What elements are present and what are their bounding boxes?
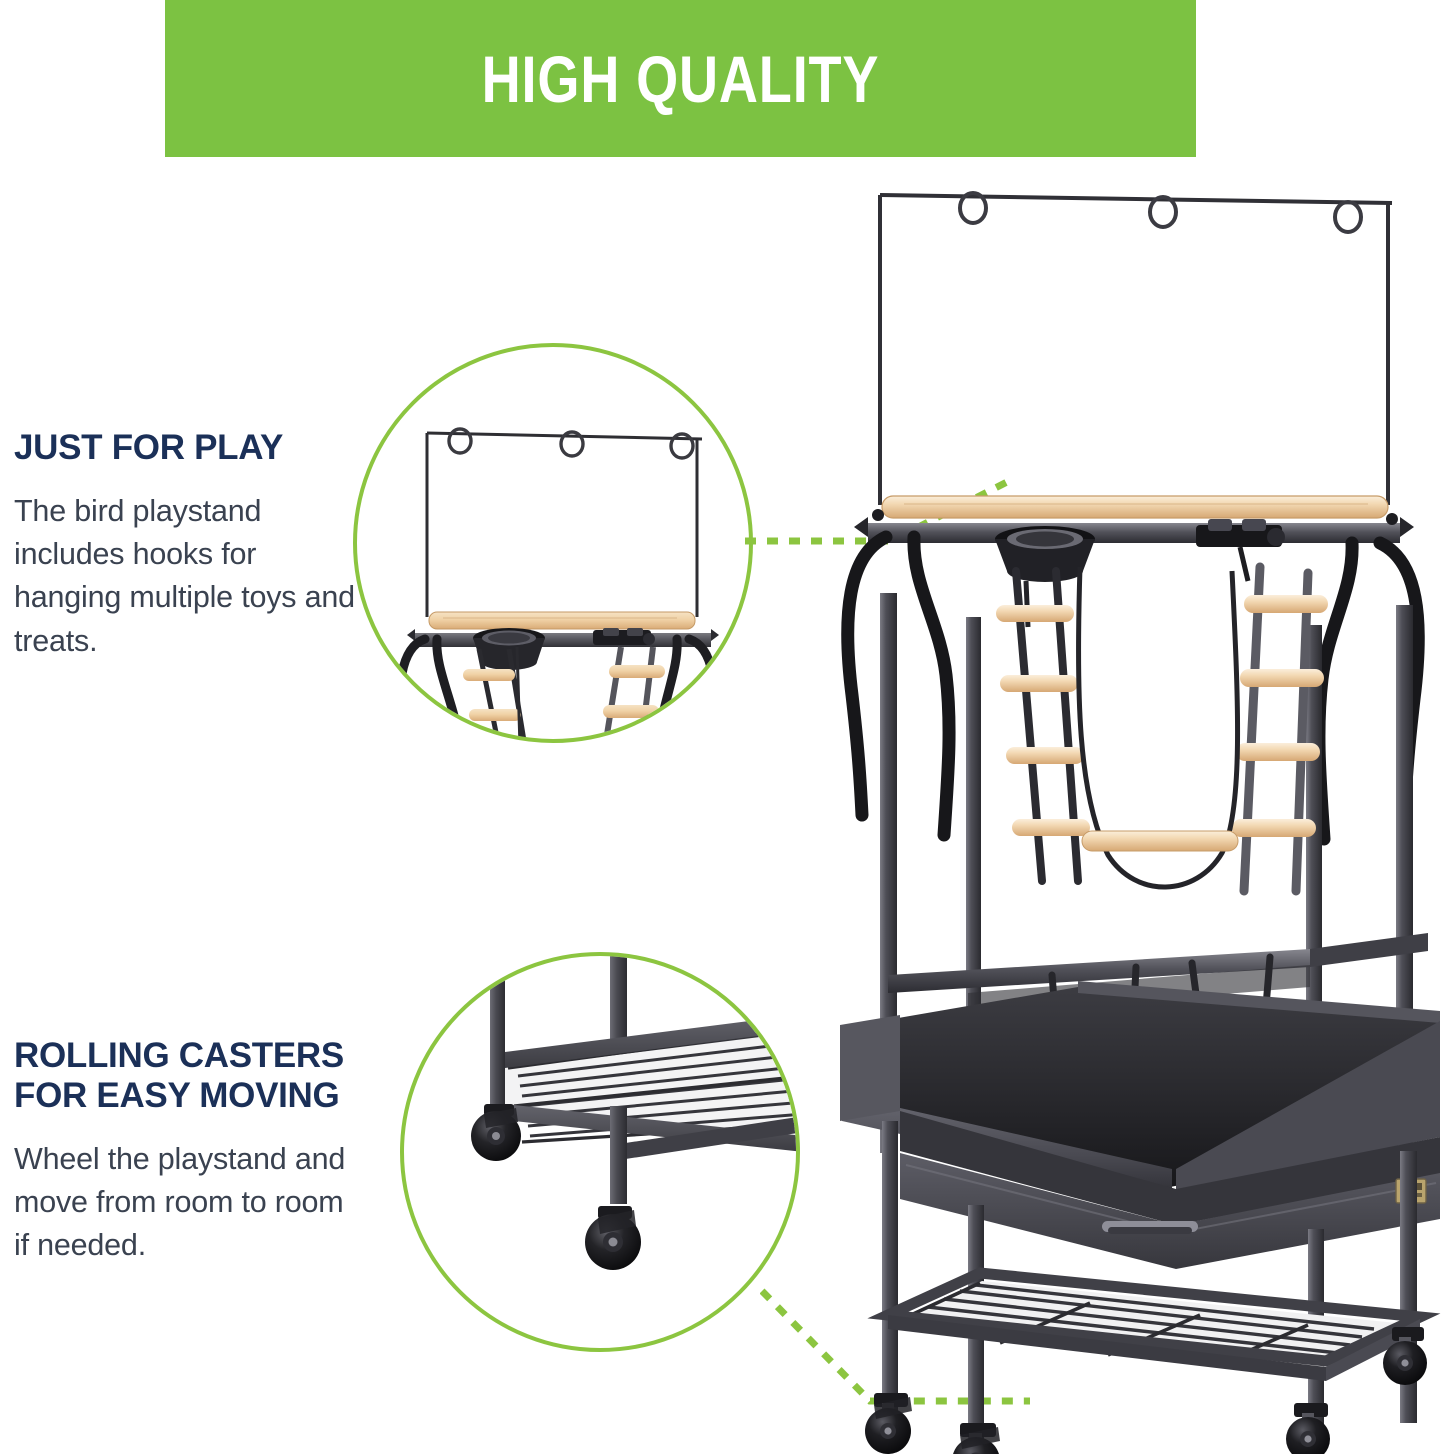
header-banner: HIGH QUALITY [165,0,1196,157]
drawer-handle [1102,1221,1198,1234]
grid-shelf [505,1014,796,1160]
caster-wheel [865,1393,912,1454]
feature-title-just-for-play: JUST FOR PLAY [14,428,359,468]
cup-clamp [593,628,655,645]
product-image-bird-playstand [840,175,1445,1454]
top-wood-perch [882,496,1388,518]
callout-hooks-image [357,347,749,739]
ladder-right [603,647,665,739]
feature-body-rolling-casters: Wheel the playstand and move from room t… [14,1138,359,1268]
caster-wheel [585,1206,641,1270]
caster-wheel [952,1423,1000,1454]
caster-wheel [1286,1403,1330,1454]
ladder-left [996,571,1090,881]
callout-casters-image [404,956,796,1348]
bottom-grid-shelf [888,1273,1420,1381]
caster-wheel [471,1104,521,1161]
callout-circle-casters [400,952,800,1352]
side-arches [848,537,1419,839]
hook-bar-frame [880,195,1392,505]
feature-block-just-for-play: JUST FOR PLAY The bird playstand include… [14,428,359,663]
banner-title: HIGH QUALITY [482,46,880,112]
cup-clamp-right [1196,519,1285,581]
infographic-canvas: HIGH QUALITY JUST FOR PLAY The bird play… [0,0,1445,1454]
lower-leg-left-rear [882,1121,898,1411]
callout-circle-hooks [353,343,753,743]
feature-body-just-for-play: The bird playstand includes hooks for ha… [14,490,359,663]
feature-block-rolling-casters: ROLLING CASTERS FOR EASY MOVING Wheel th… [14,1036,359,1268]
feature-title-rolling-casters: ROLLING CASTERS FOR EASY MOVING [14,1036,359,1116]
swing-perch [1078,567,1238,887]
